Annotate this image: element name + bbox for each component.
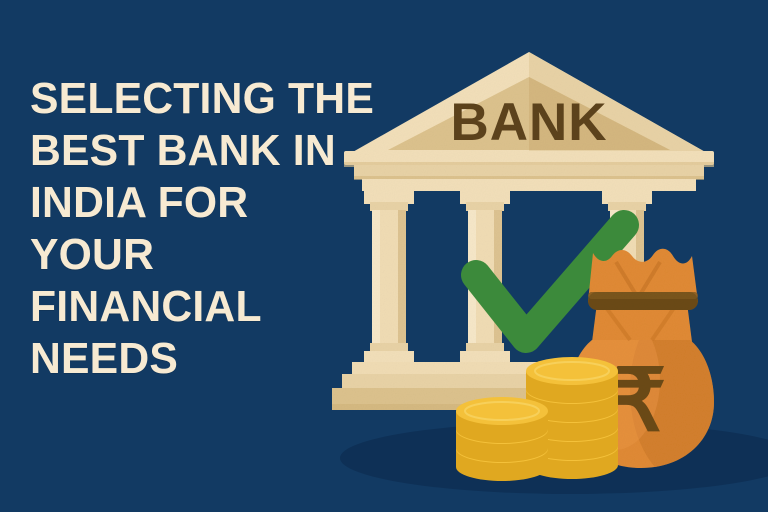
coin	[456, 397, 548, 443]
bank-sign-text: BANK	[450, 93, 607, 152]
page-title: SELECTING THE BEST BANK IN INDIA FOR YOU…	[30, 73, 379, 385]
bank-column-1	[364, 191, 414, 364]
bank-pediment: BANK	[351, 52, 707, 153]
money-bag-tie	[588, 292, 698, 310]
promo-banner: SELECTING THE BEST BANK IN INDIA FOR YOU…	[0, 0, 768, 512]
bank-entablature	[344, 151, 714, 191]
rupee-symbol: ₹	[612, 353, 667, 449]
coin	[526, 357, 618, 403]
coin-stack-left	[456, 397, 548, 481]
bank-illustration: BANK	[330, 40, 768, 512]
